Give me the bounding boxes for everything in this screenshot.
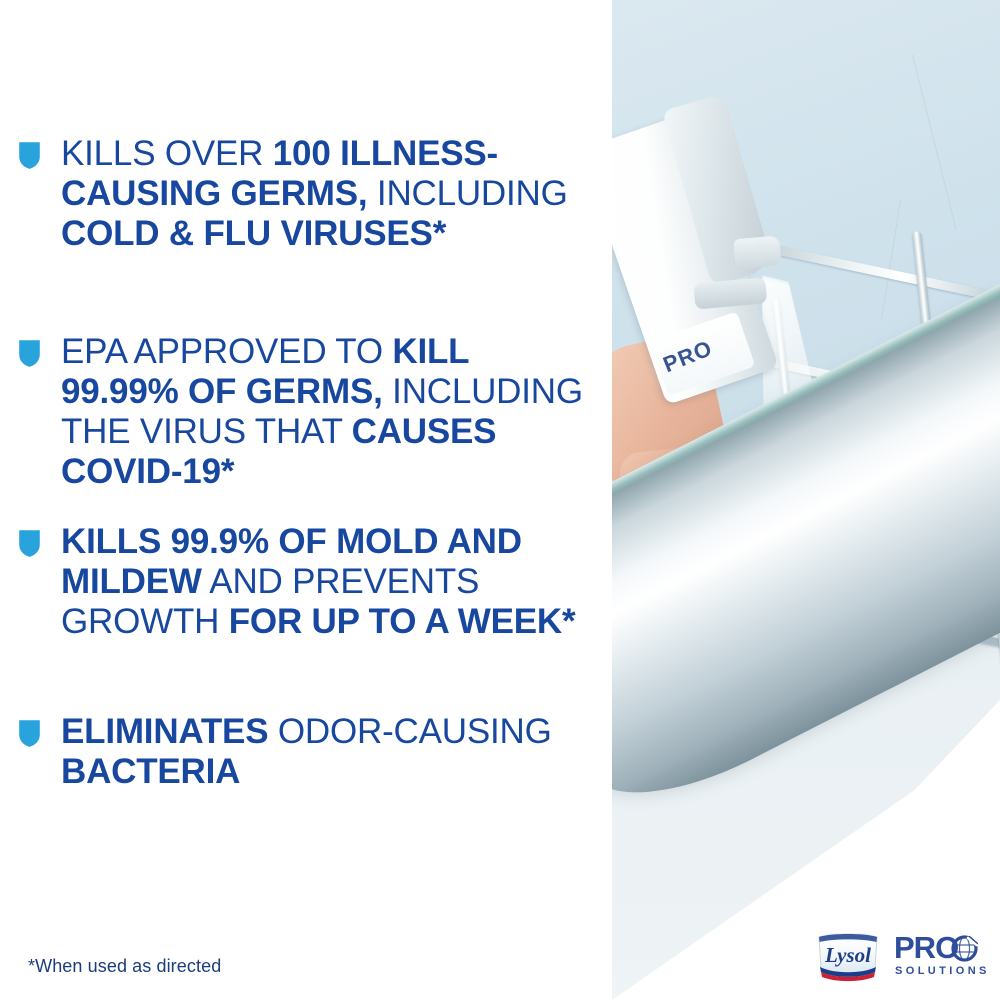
claim-item-germs: KILLS OVER 100 ILLNESS-CAUSING GERMS, IN… — [18, 134, 593, 254]
claim-item-epa: EPA APPROVED TO KILL 99.99% OF GERMS, IN… — [18, 332, 593, 492]
bottle-label-mark: PRO — [660, 335, 717, 378]
claim-text-odor: ELIMINATES ODOR-CAUSING BACTERIA — [61, 712, 593, 792]
claim-item-mold: KILLS 99.9% OF MOLD AND MILDEW AND PREVE… — [18, 522, 593, 642]
solutions-wordmark: SOLUTIONS — [895, 965, 990, 977]
shield-icon — [18, 339, 41, 368]
claim-seg: EPA APPROVED TO — [61, 332, 392, 371]
claim-seg-bold: BACTERIA — [61, 752, 240, 791]
svg-text:Lysol: Lysol — [824, 943, 871, 967]
lysol-logo: Lysol — [812, 931, 884, 983]
product-usage-photo: PRO — [612, 0, 1000, 1000]
shield-icon — [18, 529, 41, 558]
pro-wordmark: PRO — [894, 932, 958, 964]
claim-item-odor: ELIMINATES ODOR-CAUSING BACTERIA — [18, 712, 593, 792]
footnote-text: *When used as directed — [28, 955, 221, 977]
claim-text-epa: EPA APPROVED TO KILL 99.99% OF GERMS, IN… — [61, 332, 593, 492]
claim-seg: ODOR-CAUSING — [268, 712, 551, 751]
shield-icon — [18, 719, 41, 748]
claim-seg: KILLS OVER — [61, 134, 273, 173]
claim-seg-bold: COLD & FLU VIRUSES* — [61, 214, 446, 253]
claim-text-germs: KILLS OVER 100 ILLNESS-CAUSING GERMS, IN… — [61, 134, 593, 254]
claim-seg-bold: ELIMINATES — [61, 712, 268, 751]
shield-icon — [18, 141, 41, 170]
bottle-nozzle — [733, 235, 781, 269]
pro-solutions-logo: PRO SOLUTIONS — [894, 932, 990, 982]
globe-shield-icon — [951, 935, 978, 962]
claims-column: KILLS OVER 100 ILLNESS-CAUSING GERMS, IN… — [0, 0, 612, 1000]
claim-text-mold: KILLS 99.9% OF MOLD AND MILDEW AND PREVE… — [61, 522, 593, 642]
claim-seg: INCLUDING — [367, 174, 567, 213]
brand-logo-lockup: Lysol PRO SOLUTIONS — [812, 928, 992, 986]
lysol-pro-solutions-claims-panel: KILLS OVER 100 ILLNESS-CAUSING GERMS, IN… — [0, 0, 1000, 1000]
claim-seg-bold: FOR UP TO A WEEK* — [229, 602, 576, 641]
